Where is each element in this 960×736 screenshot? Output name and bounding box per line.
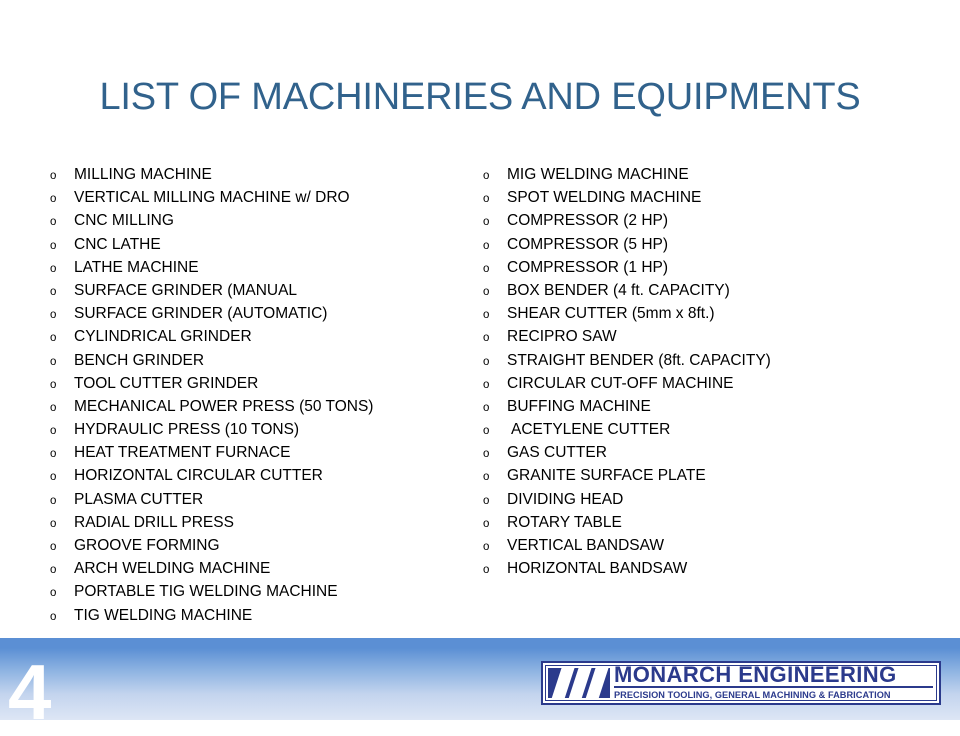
list-item-label: COMPRESSOR (1 HP) [507,259,668,277]
list-item: oBENCH GRINDER [50,352,470,375]
equipment-list-left: oMILLING MACHINEoVERTICAL MILLING MACHIN… [50,166,470,630]
list-item-label: SPOT WELDING MACHINE [507,189,701,207]
list-item: oCOMPRESSOR (2 HP) [483,212,913,235]
bullet-circle-icon: o [483,333,507,345]
list-item: oSHEAR CUTTER (5mm x 8ft.) [483,305,913,328]
list-item-label: LATHE MACHINE [74,259,199,277]
bullet-circle-icon: o [50,612,74,624]
bullet-circle-icon: o [483,565,507,577]
list-item-label: CYLINDRICAL GRINDER [74,328,252,346]
list-item-label: BOX BENDER (4 ft. CAPACITY) [507,282,730,300]
bullet-circle-icon: o [50,310,74,322]
logo-tagline: PRECISION TOOLING, GENERAL MACHINING & F… [614,688,933,702]
bullet-circle-icon: o [483,472,507,484]
bullet-circle-icon: o [483,449,507,461]
bullet-circle-icon: o [483,403,507,415]
list-item: oCNC MILLING [50,212,470,235]
list-item: oCIRCULAR CUT-OFF MACHINE [483,375,913,398]
bullet-circle-icon: o [50,403,74,415]
bullet-circle-icon: o [483,426,507,438]
bullet-circle-icon: o [50,449,74,461]
list-item: oPORTABLE TIG WELDING MACHINE [50,583,470,606]
list-item: oMILLING MACHINE [50,166,470,189]
list-item-label: MILLING MACHINE [74,166,212,184]
bullet-circle-icon: o [50,426,74,438]
bullet-circle-icon: o [483,287,507,299]
list-item-label: PORTABLE TIG WELDING MACHINE [74,583,338,601]
list-item: oLATHE MACHINE [50,259,470,282]
company-logo: MONARCH ENGINEERING PRECISION TOOLING, G… [541,661,941,705]
list-item: oCOMPRESSOR (1 HP) [483,259,913,282]
logo-company-name: MONARCH ENGINEERING [614,664,933,688]
list-item: oBOX BENDER (4 ft. CAPACITY) [483,282,913,305]
list-item-label: GROOVE FORMING [74,537,220,555]
list-item-label: CNC MILLING [74,212,174,230]
list-item: oDIVIDING HEAD [483,491,913,514]
list-item: oPLASMA CUTTER [50,491,470,514]
bullet-circle-icon: o [483,241,507,253]
list-item: oSURFACE GRINDER (MANUAL [50,282,470,305]
list-item-label: MIG WELDING MACHINE [507,166,689,184]
list-item: oVERTICAL MILLING MACHINE w/ DRO [50,189,470,212]
list-item: oHORIZONTAL BANDSAW [483,560,913,583]
bullet-circle-icon: o [50,588,74,600]
page-number: 4 [8,656,49,728]
bullet-circle-icon: o [50,380,74,392]
equipment-column-left: oMILLING MACHINEoVERTICAL MILLING MACHIN… [50,166,470,630]
list-item: oARCH WELDING MACHINE [50,560,470,583]
list-item-label: RADIAL DRILL PRESS [74,514,234,532]
bullet-circle-icon: o [50,542,74,554]
list-item-label: HORIZONTAL BANDSAW [507,560,687,578]
bullet-circle-icon: o [483,171,507,183]
bullet-circle-icon: o [50,264,74,276]
list-item-label: SURFACE GRINDER (AUTOMATIC) [74,305,327,323]
list-item-label: COMPRESSOR (5 HP) [507,236,668,254]
bullet-circle-icon: o [50,496,74,508]
list-item-label: MECHANICAL POWER PRESS (50 TONS) [74,398,373,416]
bullet-circle-icon: o [50,565,74,577]
bullet-circle-icon: o [483,542,507,554]
bullet-circle-icon: o [483,519,507,531]
bullet-circle-icon: o [50,241,74,253]
list-item: oSTRAIGHT BENDER (8ft. CAPACITY) [483,352,913,375]
list-item-label: GRANITE SURFACE PLATE [507,467,706,485]
bullet-circle-icon: o [50,333,74,345]
list-item: oHEAT TREATMENT FURNACE [50,444,470,467]
bullet-circle-icon: o [483,357,507,369]
list-item-label: RECIPRO SAW [507,328,617,346]
bullet-circle-icon: o [483,217,507,229]
monarch-mark-icon [548,668,610,698]
list-item: oMIG WELDING MACHINE [483,166,913,189]
list-item: oTIG WELDING MACHINE [50,607,470,630]
logo-text-block: MONARCH ENGINEERING PRECISION TOOLING, G… [614,666,936,700]
bullet-circle-icon: o [483,310,507,322]
list-item: oVERTICAL BANDSAW [483,537,913,560]
list-item-label: COMPRESSOR (2 HP) [507,212,668,230]
footer-accent-bar [0,638,960,648]
list-item-label: BENCH GRINDER [74,352,204,370]
list-item: oCOMPRESSOR (5 HP) [483,236,913,259]
list-item-label: GAS CUTTER [507,444,607,462]
bullet-circle-icon: o [50,194,74,206]
list-item-label: DIVIDING HEAD [507,491,623,509]
bullet-circle-icon: o [50,519,74,531]
bullet-circle-icon: o [483,194,507,206]
list-item-label: ACETYLENE CUTTER [507,421,670,439]
bullet-circle-icon: o [483,264,507,276]
list-item: oTOOL CUTTER GRINDER [50,375,470,398]
list-item: oMECHANICAL POWER PRESS (50 TONS) [50,398,470,421]
list-item-label: SURFACE GRINDER (MANUAL [74,282,297,300]
list-item: oBUFFING MACHINE [483,398,913,421]
list-item: oRECIPRO SAW [483,328,913,351]
list-item-label: TIG WELDING MACHINE [74,607,252,625]
bullet-circle-icon: o [50,287,74,299]
list-item: oHYDRAULIC PRESS (10 TONS) [50,421,470,444]
list-item-label: CNC LATHE [74,236,161,254]
list-item: oSPOT WELDING MACHINE [483,189,913,212]
bullet-circle-icon: o [50,217,74,229]
list-item-label: ROTARY TABLE [507,514,622,532]
list-item-label: VERTICAL MILLING MACHINE w/ DRO [74,189,350,207]
presentation-slide: LIST OF MACHINERIES AND EQUIPMENTS oMILL… [0,0,960,720]
bullet-circle-icon: o [483,380,507,392]
list-item-label: CIRCULAR CUT-OFF MACHINE [507,375,733,393]
list-item: oACETYLENE CUTTER [483,421,913,444]
bullet-circle-icon: o [50,171,74,183]
bullet-circle-icon: o [50,357,74,369]
list-item-label: STRAIGHT BENDER (8ft. CAPACITY) [507,352,771,370]
list-item-label: VERTICAL BANDSAW [507,537,664,555]
list-item-label: SHEAR CUTTER (5mm x 8ft.) [507,305,715,323]
page-title: LIST OF MACHINERIES AND EQUIPMENTS [0,77,960,119]
list-item-label: HYDRAULIC PRESS (10 TONS) [74,421,299,439]
list-item: oGRANITE SURFACE PLATE [483,467,913,490]
bullet-circle-icon: o [50,472,74,484]
logo-frame: MONARCH ENGINEERING PRECISION TOOLING, G… [545,665,937,701]
list-item: oSURFACE GRINDER (AUTOMATIC) [50,305,470,328]
list-item-label: TOOL CUTTER GRINDER [74,375,258,393]
equipment-column-right: oMIG WELDING MACHINEoSPOT WELDING MACHIN… [483,166,913,583]
list-item: oGROOVE FORMING [50,537,470,560]
list-item: oCYLINDRICAL GRINDER [50,328,470,351]
list-item-label: BUFFING MACHINE [507,398,651,416]
list-item: oROTARY TABLE [483,514,913,537]
list-item: oHORIZONTAL CIRCULAR CUTTER [50,467,470,490]
list-item: oCNC LATHE [50,236,470,259]
list-item: oGAS CUTTER [483,444,913,467]
bullet-circle-icon: o [483,496,507,508]
list-item: oRADIAL DRILL PRESS [50,514,470,537]
equipment-list-right: oMIG WELDING MACHINEoSPOT WELDING MACHIN… [483,166,913,583]
list-item-label: HEAT TREATMENT FURNACE [74,444,290,462]
list-item-label: PLASMA CUTTER [74,491,203,509]
list-item-label: HORIZONTAL CIRCULAR CUTTER [74,467,323,485]
slide-content: oMILLING MACHINEoVERTICAL MILLING MACHIN… [0,166,960,626]
list-item-label: ARCH WELDING MACHINE [74,560,270,578]
